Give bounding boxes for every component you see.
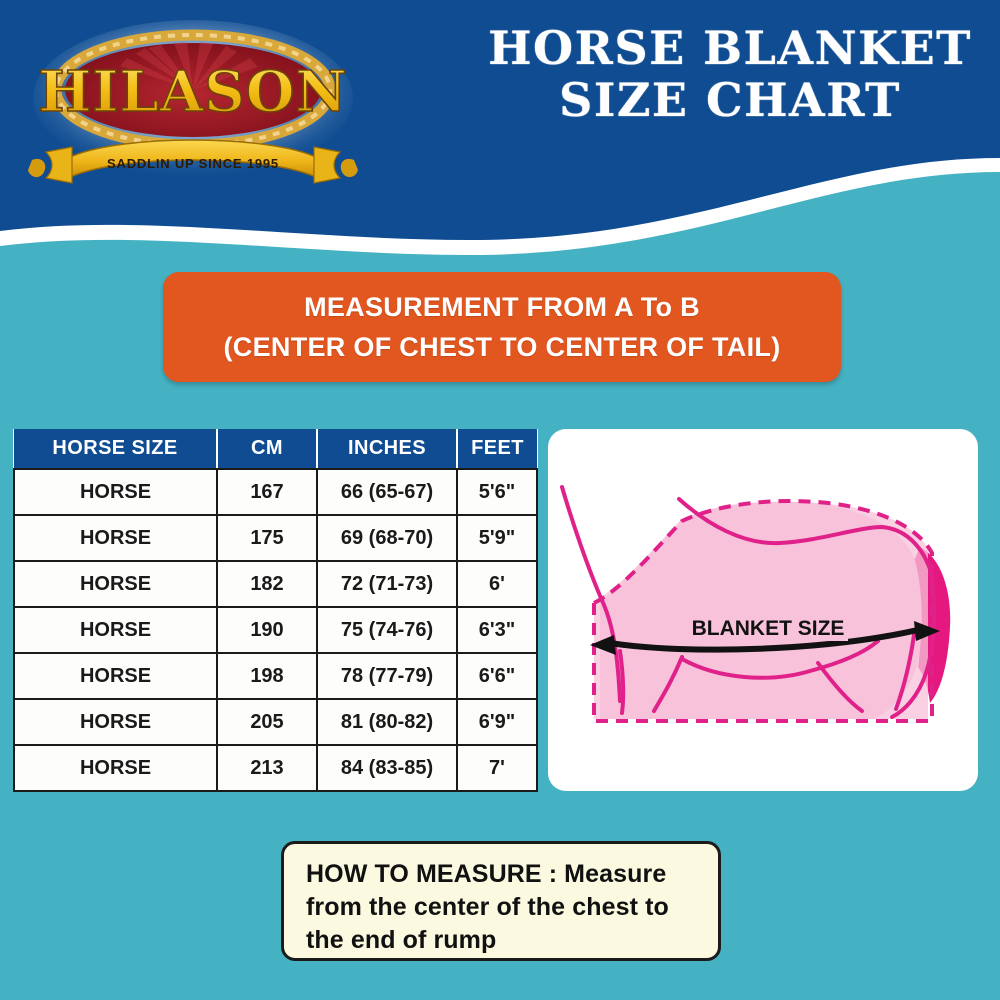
- cell-inches: 84 (83-85): [317, 745, 457, 791]
- cell-cm: 182: [217, 561, 317, 607]
- logo-ribbon-curl-right: [341, 159, 358, 177]
- cell-horse-size: HORSE: [14, 607, 217, 653]
- size-chart-table: HORSE SIZE CM INCHES FEET HORSE 167 66 (…: [13, 429, 538, 792]
- cell-feet: 6': [457, 561, 537, 607]
- cell-feet: 6'3": [457, 607, 537, 653]
- measurement-instruction-banner: MEASUREMENT FROM A To B (CENTER OF CHEST…: [163, 272, 841, 382]
- column-header-inches: INCHES: [317, 429, 457, 469]
- page-title-line-1: HORSE BLANKET: [470, 22, 990, 74]
- cell-cm: 190: [217, 607, 317, 653]
- table-body: HORSE 167 66 (65-67) 5'6" HORSE 175 69 (…: [14, 469, 537, 791]
- cell-inches: 69 (68-70): [317, 515, 457, 561]
- logo-brand-text: HILASON: [38, 59, 347, 125]
- table-row: HORSE 182 72 (71-73) 6': [14, 561, 537, 607]
- table-row: HORSE 205 81 (80-82) 6'9": [14, 699, 537, 745]
- logo-graphic: HILASON SADDLIN UP SINCE 1995: [28, 18, 358, 198]
- column-header-feet: FEET: [457, 429, 537, 469]
- logo-ribbon-tail-left: [46, 147, 72, 183]
- cell-inches: 75 (74-76): [317, 607, 457, 653]
- table-header-row: HORSE SIZE CM INCHES FEET: [14, 429, 537, 469]
- horse-diagram-card: BLANKET SIZE: [548, 429, 978, 791]
- cell-horse-size: HORSE: [14, 745, 217, 791]
- hilason-logo: HILASON SADDLIN UP SINCE 1995: [28, 18, 358, 198]
- note-line-3: the end of rump: [306, 924, 700, 957]
- horse-blanket-diagram: BLANKET SIZE: [548, 429, 978, 791]
- table-row: HORSE 198 78 (77-79) 6'6": [14, 653, 537, 699]
- cell-feet: 7': [457, 745, 537, 791]
- cell-feet: 5'6": [457, 469, 537, 515]
- table-row: HORSE 167 66 (65-67) 5'6": [14, 469, 537, 515]
- cell-horse-size: HORSE: [14, 469, 217, 515]
- cell-cm: 167: [217, 469, 317, 515]
- cell-cm: 205: [217, 699, 317, 745]
- how-to-measure-note: HOW TO MEASURE : Measure from the center…: [281, 841, 721, 961]
- cell-inches: 78 (77-79): [317, 653, 457, 699]
- cell-horse-size: HORSE: [14, 699, 217, 745]
- column-header-horse-size: HORSE SIZE: [14, 429, 217, 469]
- page-title: HORSE BLANKET SIZE CHART: [470, 22, 990, 126]
- cell-cm: 175: [217, 515, 317, 561]
- logo-ribbon-curl-left: [28, 159, 45, 177]
- header-band: HILASON SADDLIN UP SINCE 1995 HORSE BLAN…: [0, 0, 1000, 260]
- banner-line-1: MEASUREMENT FROM A To B: [304, 287, 700, 327]
- cell-feet: 6'9": [457, 699, 537, 745]
- note-line-1: HOW TO MEASURE : Measure: [306, 858, 700, 891]
- cell-horse-size: HORSE: [14, 515, 217, 561]
- cell-feet: 6'6": [457, 653, 537, 699]
- cell-inches: 72 (71-73): [317, 561, 457, 607]
- column-header-cm: CM: [217, 429, 317, 469]
- logo-tagline-text: SADDLIN UP SINCE 1995: [107, 156, 279, 171]
- cell-horse-size: HORSE: [14, 561, 217, 607]
- cell-cm: 213: [217, 745, 317, 791]
- table-header: HORSE SIZE CM INCHES FEET: [14, 429, 537, 469]
- cell-feet: 5'9": [457, 515, 537, 561]
- blanket-size-label: BLANKET SIZE: [692, 617, 845, 640]
- cell-horse-size: HORSE: [14, 653, 217, 699]
- note-line-2: from the center of the chest to: [306, 891, 700, 924]
- cell-inches: 66 (65-67): [317, 469, 457, 515]
- banner-line-2: (CENTER OF CHEST TO CENTER OF TAIL): [224, 327, 781, 367]
- logo-ribbon-tail-right: [314, 147, 340, 183]
- cell-inches: 81 (80-82): [317, 699, 457, 745]
- table-row: HORSE 175 69 (68-70) 5'9": [14, 515, 537, 561]
- table-row: HORSE 213 84 (83-85) 7': [14, 745, 537, 791]
- page-title-line-2: SIZE CHART: [470, 74, 990, 126]
- table-row: HORSE 190 75 (74-76) 6'3": [14, 607, 537, 653]
- blanket-region-fill: [594, 502, 928, 719]
- cell-cm: 198: [217, 653, 317, 699]
- size-chart-page: HILASON SADDLIN UP SINCE 1995 HORSE BLAN…: [0, 0, 1000, 1000]
